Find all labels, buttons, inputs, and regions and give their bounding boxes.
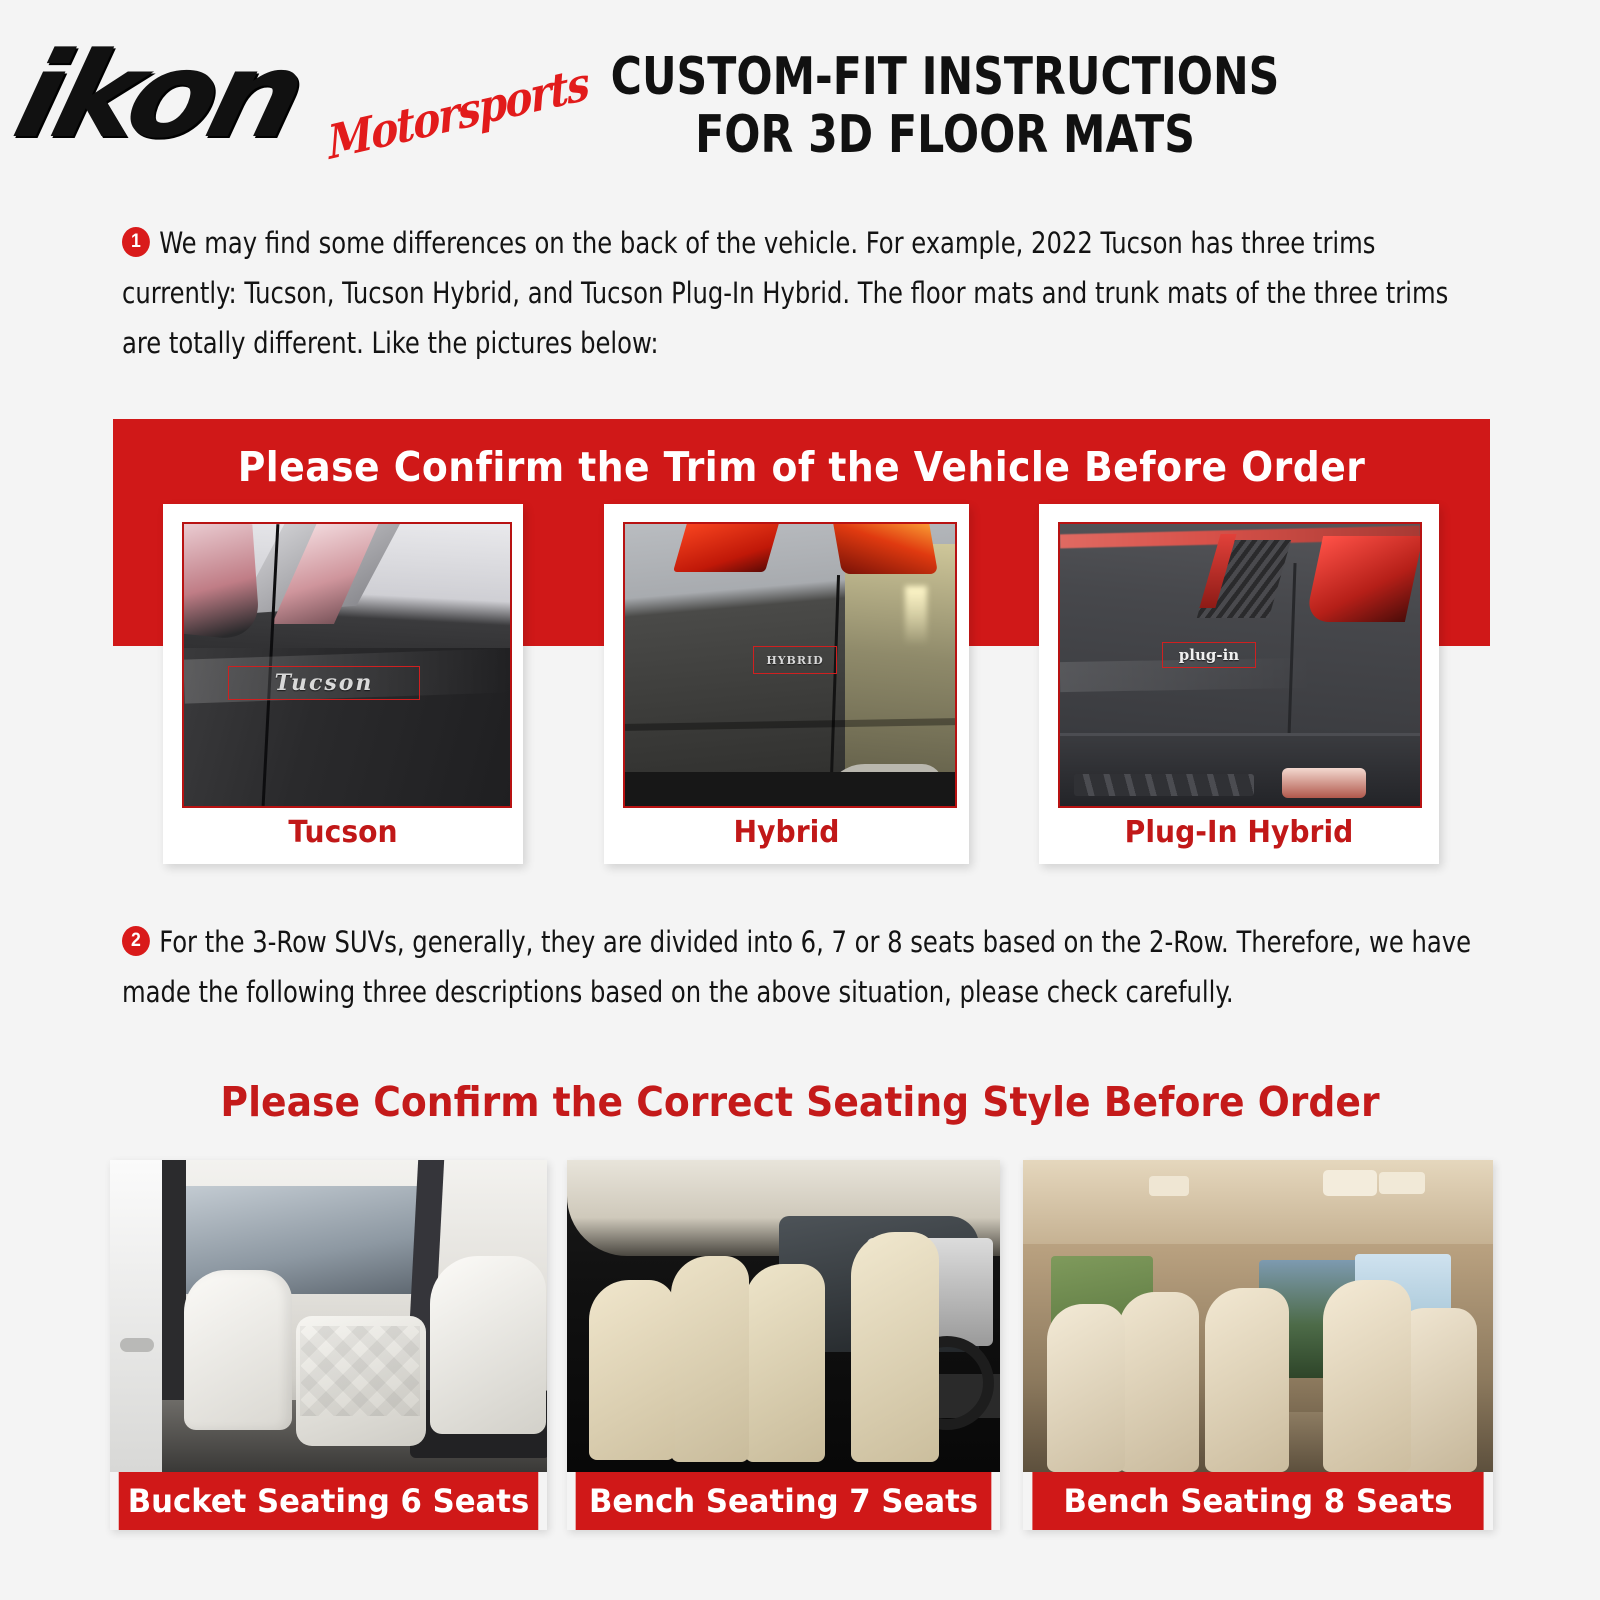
page-title-line-2: FOR 3D FLOOR MATS bbox=[523, 106, 1368, 164]
trim-caption-tucson: Tucson bbox=[174, 815, 512, 850]
seating-section-heading: Please Confirm the Correct Seating Style… bbox=[64, 1078, 1536, 1126]
trim-photo-tucson: Tucson bbox=[182, 522, 512, 808]
seating-label-bench-7: Bench Seating 7 Seats bbox=[576, 1472, 992, 1530]
trim-photo-hybrid: HYBRID bbox=[623, 522, 957, 808]
trim-photo-plugin-hybrid: plug-in bbox=[1058, 522, 1422, 808]
emblem-highlight-box-hybrid: HYBRID bbox=[753, 646, 837, 674]
seating-photo-bucket-6 bbox=[110, 1160, 547, 1472]
seating-label-bucket-6: Bucket Seating 6 Seats bbox=[119, 1472, 539, 1530]
trim-card-hybrid[interactable]: HYBRID Hybrid bbox=[604, 504, 969, 864]
seating-card-bench-7[interactable]: Bench Seating 7 Seats bbox=[567, 1160, 1000, 1530]
seating-label-bench-8: Bench Seating 8 Seats bbox=[1032, 1472, 1483, 1530]
trim-card-tucson[interactable]: Tucson Tucson bbox=[163, 504, 523, 864]
step-2-paragraph: 2For the 3-Row SUVs, generally, they are… bbox=[122, 918, 1480, 1018]
seating-card-bucket-6[interactable]: Bucket Seating 6 Seats bbox=[110, 1160, 547, 1530]
emblem-text-plugin: plug-in bbox=[1179, 646, 1239, 664]
seating-photo-bench-8 bbox=[1023, 1160, 1493, 1472]
emblem-highlight-box-tucson: Tucson bbox=[228, 666, 420, 700]
page-title: CUSTOM-FIT INSTRUCTIONS FOR 3D FLOOR MAT… bbox=[523, 48, 1368, 164]
step-1-paragraph: 1We may find some differences on the bac… bbox=[122, 219, 1480, 369]
step-1-bullet-icon: 1 bbox=[122, 227, 150, 257]
seating-photo-bench-7 bbox=[567, 1160, 1000, 1472]
emblem-text-hybrid: HYBRID bbox=[766, 654, 823, 667]
step-1-text: We may find some differences on the back… bbox=[122, 226, 1448, 360]
emblem-highlight-box-plugin: plug-in bbox=[1162, 642, 1256, 668]
page-header: ikon Motorsports CUSTOM-FIT INSTRUCTIONS… bbox=[0, 0, 1600, 200]
seating-card-bench-8[interactable]: Bench Seating 8 Seats bbox=[1023, 1160, 1493, 1530]
trim-banner-title: Please Confirm the Trim of the Vehicle B… bbox=[168, 443, 1435, 491]
page-title-line-1: CUSTOM-FIT INSTRUCTIONS bbox=[523, 48, 1368, 106]
trim-caption-plugin-hybrid: Plug-In Hybrid bbox=[1051, 815, 1427, 850]
step-2-bullet-icon: 2 bbox=[122, 926, 150, 956]
step-2-text: For the 3-Row SUVs, generally, they are … bbox=[122, 925, 1471, 1009]
trim-card-plugin-hybrid[interactable]: plug-in Plug-In Hybrid bbox=[1039, 504, 1439, 864]
emblem-text-tucson: Tucson bbox=[275, 670, 374, 696]
logo-wordmark: ikon bbox=[5, 36, 311, 154]
trim-caption-hybrid: Hybrid bbox=[615, 815, 958, 850]
brand-logo: ikon Motorsports bbox=[30, 28, 470, 178]
